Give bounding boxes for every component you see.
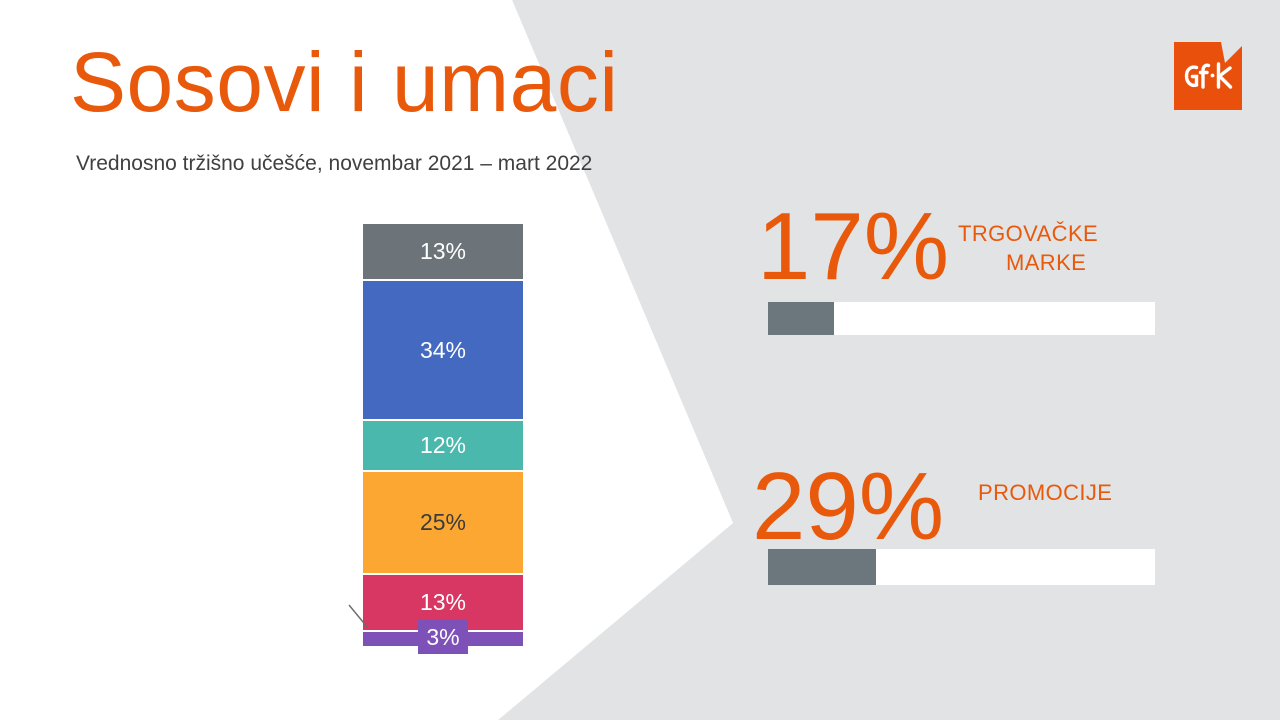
gfk-logo [1174, 42, 1242, 110]
bar-value-tradicionalne-prodavnice: 13% [420, 591, 466, 614]
bar-segment-diskontni-lanci[interactable]: 12% [363, 421, 523, 472]
page-title: Sosovi i umaci [70, 34, 619, 130]
bar-value-diskontni-lanci: 12% [420, 434, 466, 457]
stacked-bar-column: 13% 34% 12% 25% 13% [363, 224, 523, 646]
ostali-leader-line [348, 604, 370, 630]
bar-segment-hipermarketi[interactable]: 13% [363, 224, 523, 281]
bar-value-supermarketi: 34% [420, 339, 466, 362]
bar-segment-minimarketi[interactable]: 25% [363, 472, 523, 575]
bar-segment-supermarketi[interactable]: 34% [363, 281, 523, 421]
bar-value-hipermarketi: 13% [420, 240, 466, 263]
page-subtitle: Vrednosno tržišno učešće, novembar 2021 … [76, 150, 592, 178]
bar-value-ostali-callout: 3% [418, 620, 468, 654]
stacked-bar-chart: Hipermarketi Supermarketi Diskontni lanc… [0, 224, 560, 644]
slide-root: Sosovi i umaci Vrednosno tržišno učešće,… [0, 0, 1280, 720]
bar-value-minimarketi: 25% [420, 511, 466, 534]
bar-value-ostali: 3% [426, 626, 459, 649]
